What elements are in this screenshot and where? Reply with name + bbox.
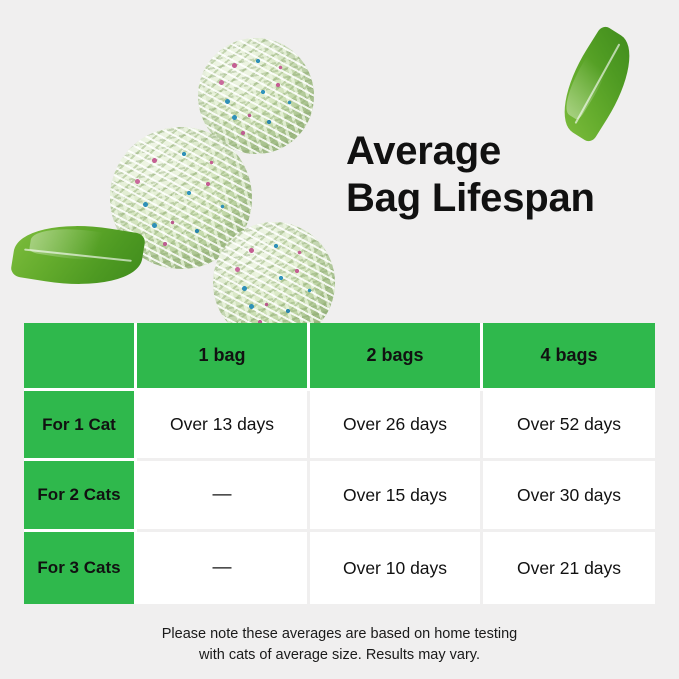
table-corner-cell [24,323,137,391]
leaf-vein [574,44,619,124]
cell-1cat-1bag: Over 13 days [137,391,310,461]
cell-1cat-2bags: Over 26 days [310,391,483,461]
cell-2cats-4bags: Over 30 days [483,461,655,532]
cat-litter-clump-icon [198,38,314,154]
cell-3cats-2bags: Over 10 days [310,532,483,604]
column-header-2-bags: 2 bags [310,323,483,391]
cell-3cats-1bag: — [137,532,310,604]
page-title: Average Bag Lifespan [346,128,646,222]
cat-litter-clump-icon [110,127,252,269]
column-header-1-bag: 1 bag [137,323,310,391]
leaf-highlight [29,222,127,267]
column-header-4-bags: 4 bags [483,323,655,391]
row-label-for-1-cat: For 1 Cat [24,391,137,461]
infographic-canvas: Average Bag Lifespan 1 bag 2 bags 4 bags… [0,0,679,679]
lifespan-table: 1 bag 2 bags 4 bags For 1 Cat Over 13 da… [24,323,655,604]
cell-2cats-1bag: — [137,461,310,532]
footnote-line-2: with cats of average size. Results may v… [0,645,679,666]
cell-2cats-2bags: Over 15 days [310,461,483,532]
leaf-highlight [556,39,621,121]
cell-1cat-4bags: Over 52 days [483,391,655,461]
cell-3cats-4bags: Over 21 days [483,532,655,604]
leaf-vein [24,249,131,262]
page-title-line-2: Bag Lifespan [346,175,646,222]
green-leaf-icon [10,214,146,295]
footnote-line-1: Please note these averages are based on … [0,624,679,645]
row-label-for-3-cats: For 3 Cats [24,532,137,604]
row-label-for-2-cats: For 2 Cats [24,461,137,532]
footnote-disclaimer: Please note these averages are based on … [0,624,679,665]
page-title-line-1: Average [346,128,646,175]
green-leaf-icon [545,24,648,144]
